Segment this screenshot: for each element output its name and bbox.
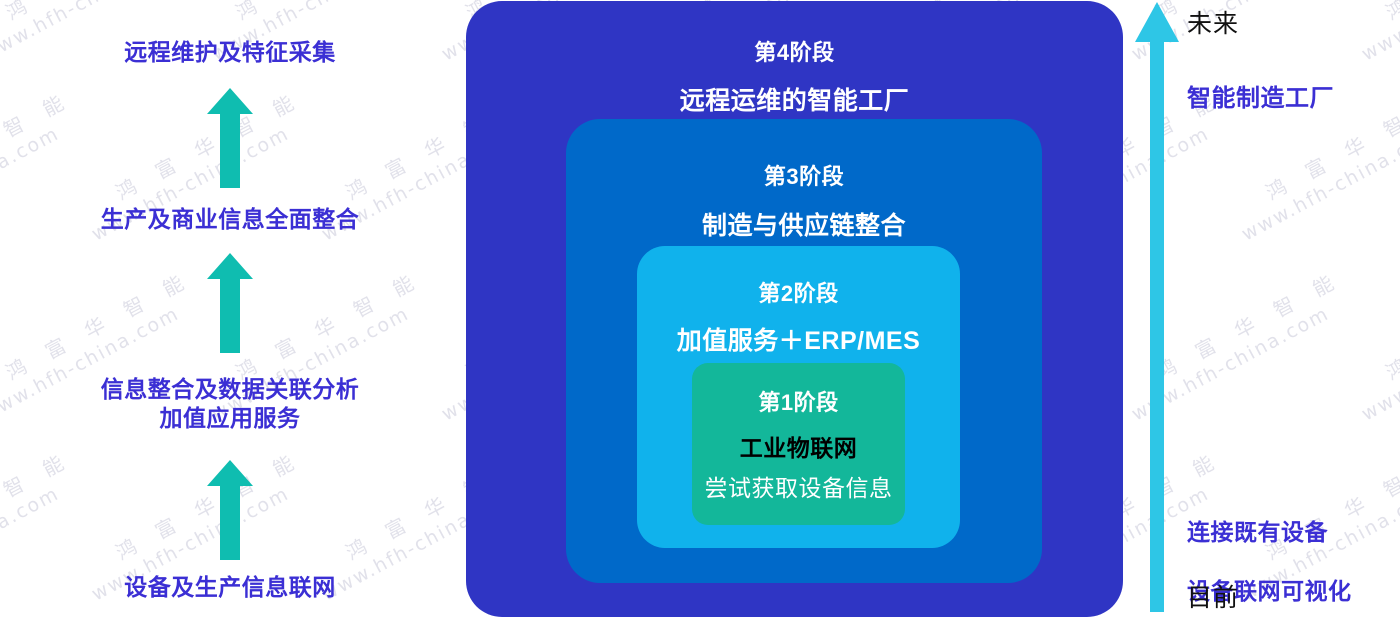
stage-3-title: 第3阶段 bbox=[566, 159, 1042, 191]
timeline-up-arrow-icon bbox=[1135, 0, 1179, 612]
stage-2-subtitle: 加值服务＋ERP/MES bbox=[637, 321, 960, 357]
timeline-label-connect-line1: 连接既有设备 bbox=[1187, 518, 1352, 547]
timeline-column: 未来 智能制造工厂 连接既有设备 设备联网可视化 目前 bbox=[1123, 0, 1400, 630]
stage-2-title: 第2阶段 bbox=[637, 276, 960, 308]
stage-box-2[interactable]: 第2阶段 加值服务＋ERP/MES 第1阶段 工业物联网 尝试获取设备信息 bbox=[637, 246, 960, 548]
timeline-label-present: 目前 bbox=[1187, 578, 1239, 614]
stage-1-subtitle-primary: 工业物联网 bbox=[692, 429, 905, 463]
stage-1-subtitle-secondary: 尝试获取设备信息 bbox=[692, 469, 905, 503]
stage-box-3[interactable]: 第3阶段 制造与供应链整合 第2阶段 加值服务＋ERP/MES 第1阶段 工业物… bbox=[566, 119, 1042, 583]
stage-box-4[interactable]: 第4阶段 远程运维的智能工厂 第3阶段 制造与供应链整合 第2阶段 加值服务＋E… bbox=[466, 1, 1123, 617]
stage-box-1[interactable]: 第1阶段 工业物联网 尝试获取设备信息 bbox=[692, 363, 905, 525]
timeline-label-future: 未来 bbox=[1187, 4, 1239, 40]
stage-3-subtitle: 制造与供应链整合 bbox=[566, 206, 1042, 242]
stage-4-subtitle: 远程运维的智能工厂 bbox=[466, 81, 1123, 117]
stage-1-title: 第1阶段 bbox=[692, 385, 905, 417]
stage-4-title: 第4阶段 bbox=[466, 35, 1123, 67]
timeline-label-smart-factory: 智能制造工厂 bbox=[1187, 78, 1334, 113]
